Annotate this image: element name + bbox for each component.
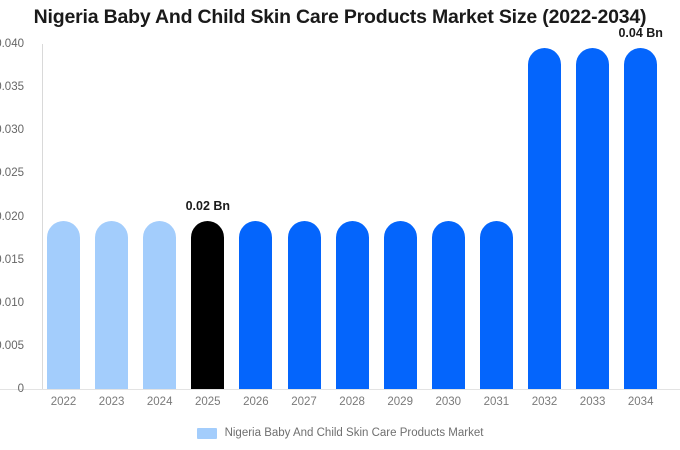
bar-2031[interactable] <box>480 221 513 389</box>
bar-2029[interactable] <box>384 221 417 389</box>
x-axis-line <box>0 389 680 390</box>
bar-2022[interactable] <box>47 221 80 389</box>
bar-2023[interactable] <box>95 221 128 389</box>
bar-column[interactable] <box>528 44 561 389</box>
chart-title: Nigeria Baby And Child Skin Care Product… <box>0 6 680 29</box>
legend-swatch-icon <box>197 428 217 439</box>
bar-2032[interactable] <box>528 48 561 389</box>
bar-2026[interactable] <box>239 221 272 389</box>
bar-column[interactable] <box>143 44 176 389</box>
bar-column[interactable] <box>576 44 609 389</box>
plot-area <box>42 44 673 389</box>
bar-column[interactable] <box>384 44 417 389</box>
y-axis-tick: 0.025 <box>0 167 24 179</box>
bar-column[interactable] <box>47 44 80 389</box>
bar-2033[interactable] <box>576 48 609 389</box>
bar-column[interactable] <box>336 44 369 389</box>
bar-chart: Nigeria Baby And Child Skin Care Product… <box>0 0 680 450</box>
y-axis-tick: 0.005 <box>0 340 24 352</box>
chart-legend: Nigeria Baby And Child Skin Care Product… <box>0 427 680 439</box>
bar-2024[interactable] <box>143 221 176 389</box>
x-axis-tick: 2034 <box>611 396 671 408</box>
bar-value-label-2034: 0.04 Bn <box>618 26 662 40</box>
bar-column[interactable] <box>432 44 465 389</box>
bar-2027[interactable] <box>288 221 321 389</box>
bar-column[interactable] <box>288 44 321 389</box>
bar-column[interactable] <box>624 44 657 389</box>
bar-2025[interactable] <box>191 221 224 389</box>
bar-2028[interactable] <box>336 221 369 389</box>
y-axis-tick: 0.030 <box>0 124 24 136</box>
bar-column[interactable] <box>95 44 128 389</box>
bar-column[interactable] <box>480 44 513 389</box>
y-axis-tick: 0.040 <box>0 38 24 50</box>
y-axis-tick: 0.035 <box>0 81 24 93</box>
legend-label: Nigeria Baby And Child Skin Care Product… <box>225 427 484 439</box>
y-axis-tick: 0.015 <box>0 254 24 266</box>
y-axis-tick: 0.020 <box>0 211 24 223</box>
bar-column[interactable] <box>239 44 272 389</box>
bar-2030[interactable] <box>432 221 465 389</box>
bar-column[interactable] <box>191 44 224 389</box>
y-axis-tick: 0.010 <box>0 297 24 309</box>
bar-2034[interactable] <box>624 48 657 389</box>
bar-value-label-2025: 0.02 Bn <box>186 199 230 213</box>
